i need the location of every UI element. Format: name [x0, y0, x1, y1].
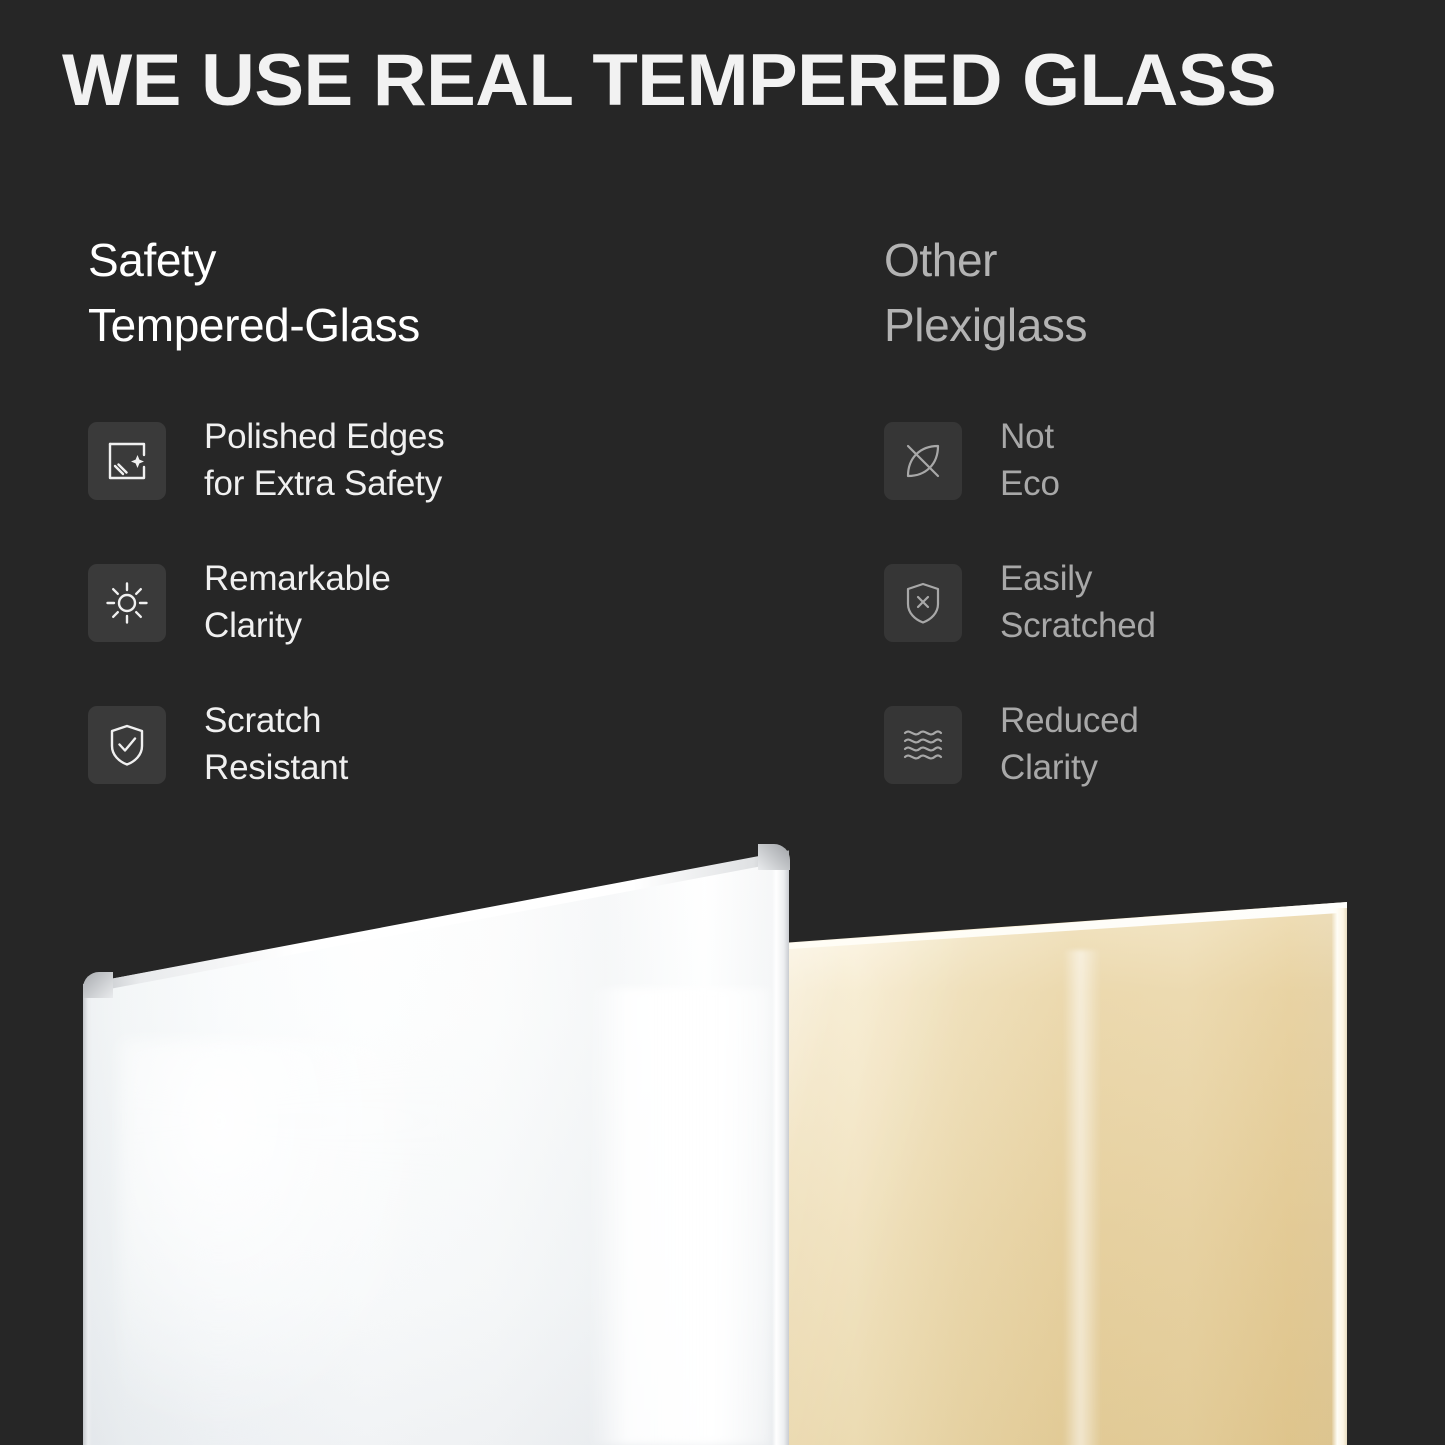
column-other-plexiglass: Other Plexiglass Not Eco: [884, 228, 1404, 789]
feature-label-scratch-resistant: Scratch Resistant: [204, 698, 348, 790]
tempered-glass-panel-glow: [120, 1040, 450, 1445]
shield-x-icon: [884, 564, 962, 642]
leaf-crossed-out-icon: [884, 422, 962, 500]
feature-easily-scratched: Easily Scratched: [884, 559, 1404, 647]
feature-remarkable-clarity: Remarkable Clarity: [88, 559, 848, 647]
tempered-glass-panel-right-edge: [772, 858, 789, 1445]
plexiglass-panel-right-edge: [1332, 908, 1347, 1445]
shield-check-icon: [88, 706, 166, 784]
plexiglass-panel: [775, 902, 1347, 1445]
tempered-glass-corner-right: [758, 844, 790, 870]
feature-label-polished-edges: Polished Edges for Extra Safety: [204, 414, 444, 506]
page-title: WE USE REAL TEMPERED GLASS: [62, 44, 1419, 117]
feature-reduced-clarity: Reduced Clarity: [884, 701, 1404, 789]
feature-list-right: Not Eco Easily Scratched: [884, 417, 1404, 789]
plexiglass-panel-reflection: [1063, 950, 1101, 1445]
feature-not-eco: Not Eco: [884, 417, 1404, 505]
comparison-infographic: WE USE REAL TEMPERED GLASS Safety Temper…: [0, 0, 1445, 1445]
sun-brightness-icon: [88, 564, 166, 642]
feature-polished-edges: Polished Edges for Extra Safety: [88, 417, 848, 505]
tempered-glass-panel-left-edge: [83, 988, 92, 1445]
column-title-left: Safety Tempered-Glass: [88, 228, 848, 359]
feature-label-not-eco: Not Eco: [1000, 414, 1060, 506]
column-title-right: Other Plexiglass: [884, 228, 1404, 359]
column-safety-tempered-glass: Safety Tempered-Glass Polished Edges for…: [88, 228, 848, 789]
feature-label-reduced-clarity: Reduced Clarity: [1000, 698, 1139, 790]
feature-list-left: Polished Edges for Extra Safety Remarkab…: [88, 417, 848, 789]
polished-glass-sparkle-icon: [88, 422, 166, 500]
product-panel-imagery: [0, 840, 1445, 1445]
feature-scratch-resistant: Scratch Resistant: [88, 701, 848, 789]
tempered-glass-panel-reflection: [588, 988, 770, 1445]
feature-label-easily-scratched: Easily Scratched: [1000, 556, 1156, 648]
comparison-columns: Safety Tempered-Glass Polished Edges for…: [0, 228, 1445, 828]
tempered-glass-corner-left: [83, 972, 113, 998]
feature-label-remarkable-clarity: Remarkable Clarity: [204, 556, 391, 648]
wavy-lines-icon: [884, 706, 962, 784]
